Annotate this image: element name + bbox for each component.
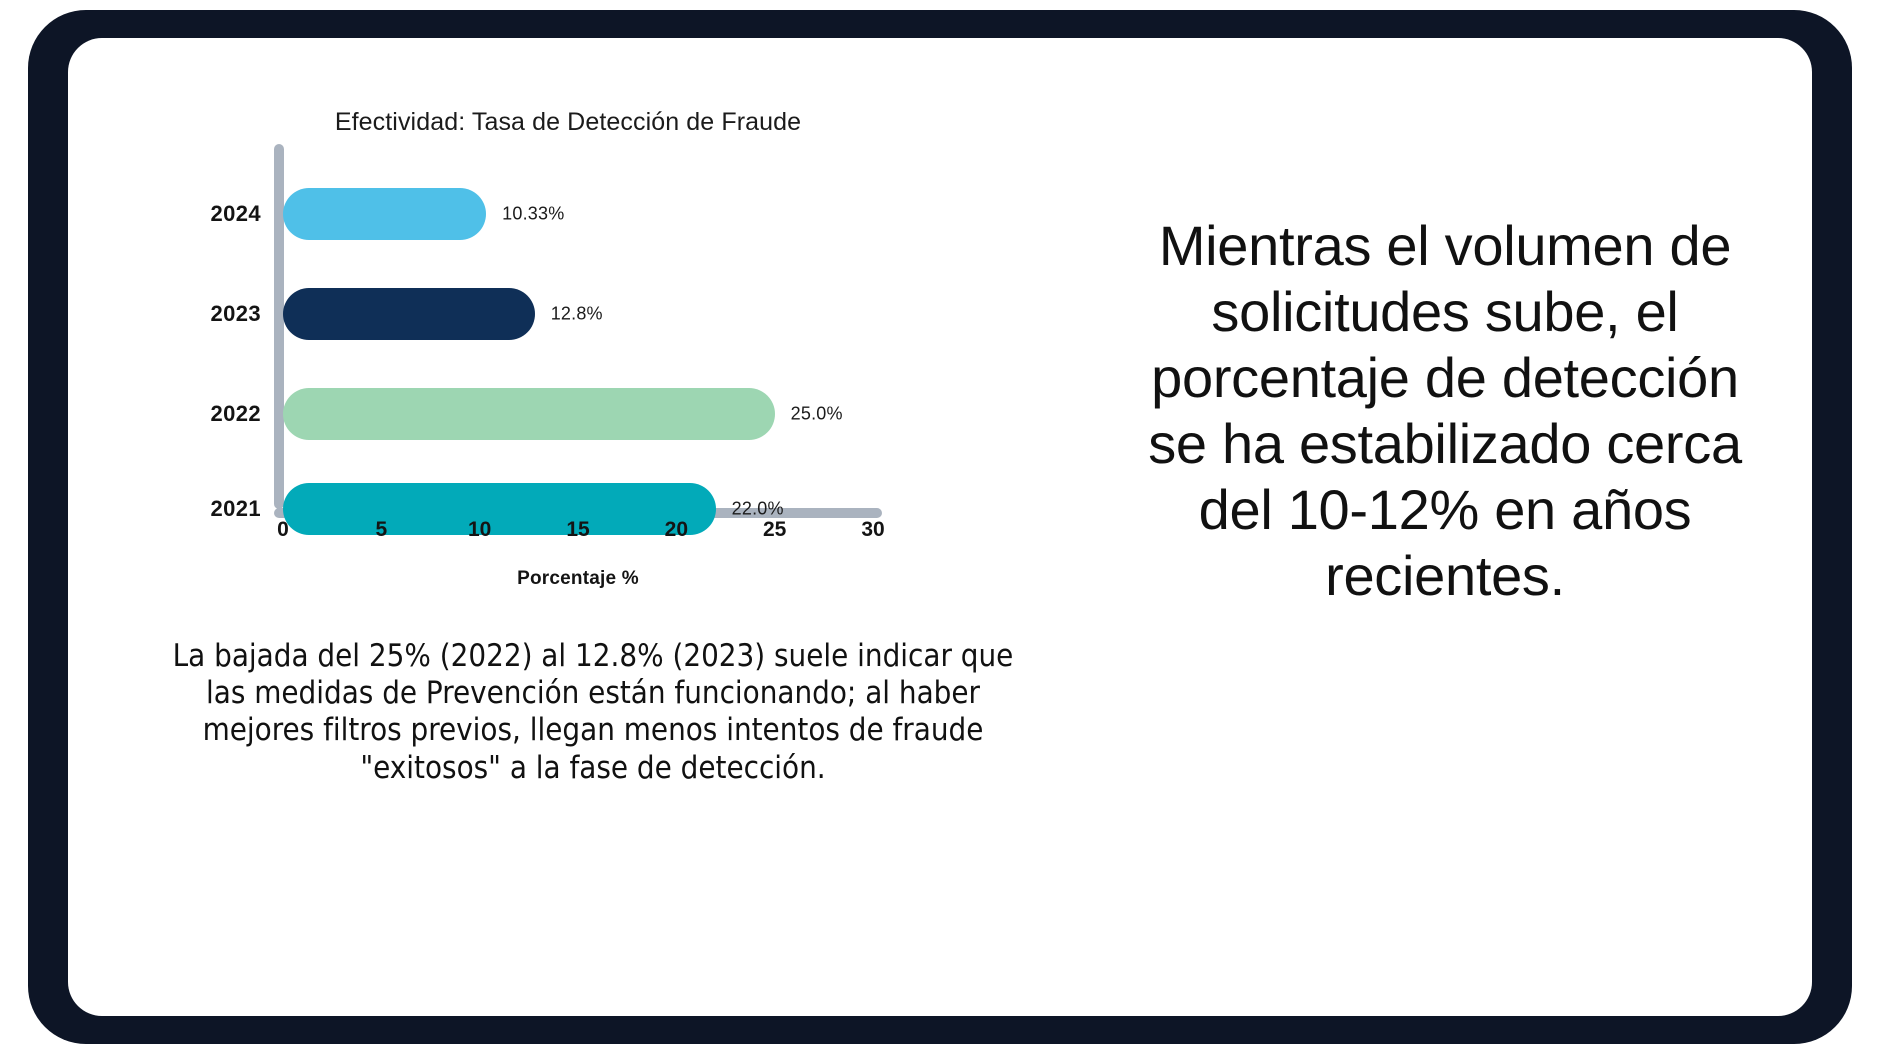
bar-value-label: 12.8% [551, 304, 603, 325]
y-axis-line [274, 144, 284, 509]
slide-content: Efectividad: Tasa de Detección de Fraude… [68, 38, 1812, 1016]
bar-2022[interactable] [283, 388, 775, 440]
bar-2024[interactable] [283, 188, 486, 240]
chart-column: Efectividad: Tasa de Detección de Fraude… [68, 38, 1088, 1016]
bar-category-label: 2023 [210, 301, 261, 327]
takeaway-text: Mientras el volumen de solicitudes sube,… [1118, 213, 1772, 609]
x-tick-label: 25 [763, 518, 786, 542]
bar-category-label: 2022 [210, 401, 261, 427]
bar-value-label: 10.33% [502, 204, 564, 225]
x-axis-label: Porcentaje % [283, 568, 873, 590]
x-tick-label: 30 [861, 518, 884, 542]
x-tick-label: 0 [277, 518, 289, 542]
slide-panel: Efectividad: Tasa de Detección de Fraude… [68, 38, 1812, 1016]
slide-frame: Efectividad: Tasa de Detección de Fraude… [28, 10, 1852, 1044]
x-tick-label: 10 [468, 518, 491, 542]
bar-chart-plot-area: 2024 10.33% 2023 12.8% 2022 25.0% [283, 144, 873, 509]
x-tick-label: 15 [566, 518, 589, 542]
bar-2023[interactable] [283, 288, 535, 340]
chart-title: Efectividad: Tasa de Detección de Fraude [68, 108, 1068, 137]
bar-value-label: 25.0% [791, 404, 843, 425]
x-tick-label: 20 [665, 518, 688, 542]
chart-caption: La bajada del 25% (2022) al 12.8% (2023)… [158, 638, 1028, 787]
bar-category-label: 2021 [210, 496, 261, 522]
bar-2021[interactable] [283, 483, 716, 535]
x-tick-label: 5 [375, 518, 387, 542]
takeaway-column: Mientras el volumen de solicitudes sube,… [1088, 38, 1812, 1016]
bar-value-label: 22.0% [732, 499, 784, 520]
bar-category-label: 2024 [210, 201, 261, 227]
